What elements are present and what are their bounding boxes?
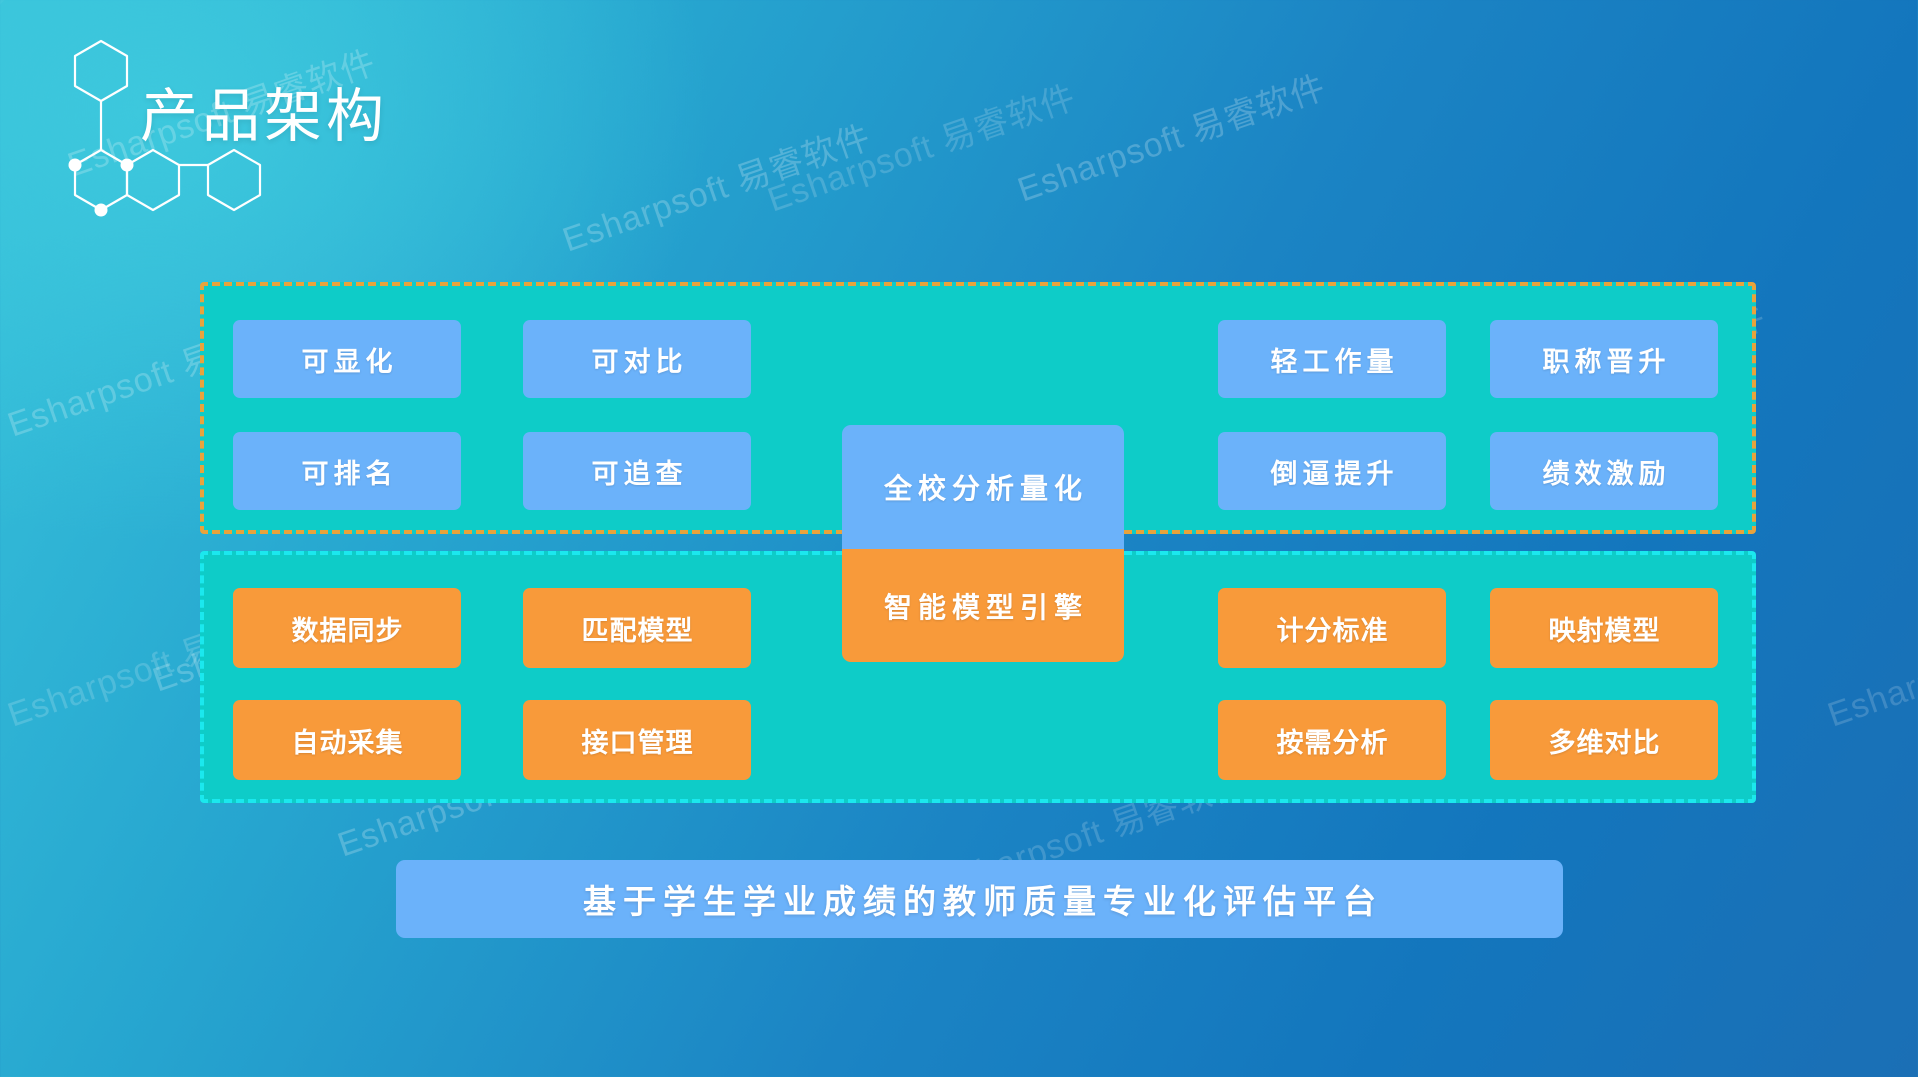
module-box-mapping-model[interactable]: 映射模型 — [1490, 588, 1718, 668]
feature-box-light-workload[interactable]: 轻工作量 — [1218, 320, 1446, 398]
watermark-text: Esharpsoft 易睿软件 — [1820, 585, 1918, 736]
module-box-multidimensional-compare[interactable]: 多维对比 — [1490, 700, 1718, 780]
center-box-intelligent-model-engine[interactable]: 智能模型引擎 — [842, 549, 1124, 662]
watermark-text: Esharpsoft 易睿软件 — [1010, 60, 1331, 211]
center-box-school-wide-analysis[interactable]: 全校分析量化 — [842, 425, 1124, 549]
feature-box-performance-incentive[interactable]: 绩效激励 — [1490, 432, 1718, 510]
feature-box-title-promotion[interactable]: 职称晋升 — [1490, 320, 1718, 398]
page-title: 产品架构 — [140, 88, 388, 146]
module-box-on-demand-analysis[interactable]: 按需分析 — [1218, 700, 1446, 780]
watermark-text: Esharpsoft 易睿软件 — [555, 110, 876, 261]
module-box-matching-model[interactable]: 匹配模型 — [523, 588, 751, 668]
module-box-data-sync[interactable]: 数据同步 — [233, 588, 461, 668]
watermark-text: Esharpsoft 易睿软件 — [760, 70, 1081, 221]
feature-box-visualize[interactable]: 可显化 — [233, 320, 461, 398]
feature-box-trace[interactable]: 可追查 — [523, 432, 751, 510]
module-box-interface-management[interactable]: 接口管理 — [523, 700, 751, 780]
module-box-auto-collect[interactable]: 自动采集 — [233, 700, 461, 780]
feature-box-reverse-improvement[interactable]: 倒逼提升 — [1218, 432, 1446, 510]
platform-banner: 基于学生学业成绩的教师质量专业化评估平台 — [396, 860, 1563, 938]
feature-box-rank[interactable]: 可排名 — [233, 432, 461, 510]
module-box-scoring-standard[interactable]: 计分标准 — [1218, 588, 1446, 668]
feature-box-compare[interactable]: 可对比 — [523, 320, 751, 398]
